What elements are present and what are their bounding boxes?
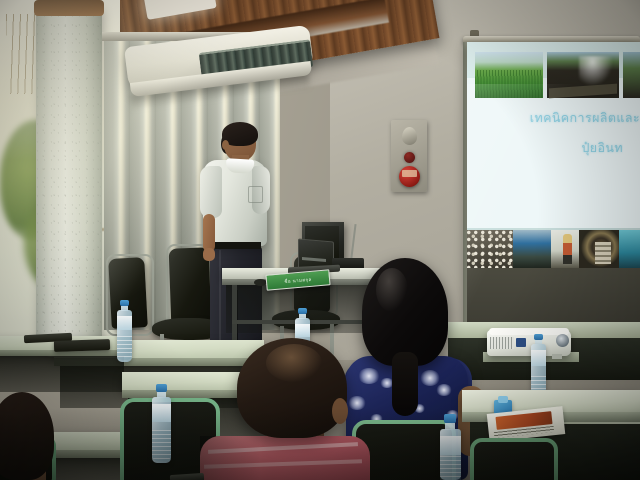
projector-vent bbox=[490, 337, 514, 349]
presenter-belt bbox=[211, 242, 261, 249]
fabric-motif bbox=[420, 370, 440, 386]
presenter-arm bbox=[203, 214, 215, 252]
presenter-trouser-crease bbox=[219, 250, 221, 350]
fabric-motif bbox=[436, 384, 452, 396]
alarm-indicator-icon bbox=[404, 152, 415, 163]
column-texture bbox=[36, 6, 102, 358]
table-underside bbox=[0, 356, 124, 392]
presenter-ear bbox=[222, 140, 229, 150]
dark-device[interactable] bbox=[170, 473, 204, 480]
green-chair-frame[interactable] bbox=[470, 438, 558, 480]
bottle-label bbox=[440, 436, 461, 455]
man-scalp-highlight bbox=[266, 344, 322, 382]
fabric-motif bbox=[358, 368, 380, 384]
screen-sheen bbox=[467, 84, 640, 332]
presenter-hand bbox=[203, 248, 215, 261]
man-ear bbox=[332, 398, 348, 424]
projection-screen: เทคนิคการผลิตและ ปุ๋ยอินท bbox=[467, 42, 640, 332]
presenter-sleeve-left bbox=[200, 166, 222, 218]
alarm-bell-icon bbox=[402, 127, 417, 145]
shirt-shadow bbox=[200, 436, 260, 480]
bottle-label bbox=[531, 350, 546, 366]
alarm-button-face bbox=[402, 170, 417, 177]
projector-port bbox=[516, 338, 526, 347]
bottle-ribs bbox=[152, 430, 171, 461]
bottle-ribs bbox=[117, 336, 132, 360]
folder[interactable] bbox=[54, 339, 110, 352]
presenter-shirt-pocket bbox=[248, 186, 263, 203]
bottle-label bbox=[117, 316, 132, 330]
bottle-cap[interactable] bbox=[444, 414, 456, 423]
slide-photo-water-spray bbox=[579, 56, 613, 86]
blue-object-top bbox=[498, 396, 508, 403]
bottle-label bbox=[295, 324, 310, 337]
fabric-motif bbox=[348, 396, 366, 410]
woman-ponytail bbox=[392, 352, 418, 416]
column-capital bbox=[34, 0, 104, 16]
bottle-ribs bbox=[440, 456, 461, 480]
hair-highlight bbox=[376, 268, 408, 312]
bottle-label bbox=[152, 404, 171, 422]
projector-top-cover bbox=[489, 328, 569, 335]
projector-foot bbox=[552, 354, 562, 359]
woman-hair bbox=[362, 258, 448, 366]
projector-lens bbox=[556, 334, 569, 347]
seminar-room-photo: เทคนิคการผลิตและ ปุ๋ยอินท bbox=[0, 0, 640, 480]
bottle-cap[interactable] bbox=[156, 384, 167, 392]
name-plate-text: ชื่อ นามสกุล bbox=[284, 275, 312, 284]
